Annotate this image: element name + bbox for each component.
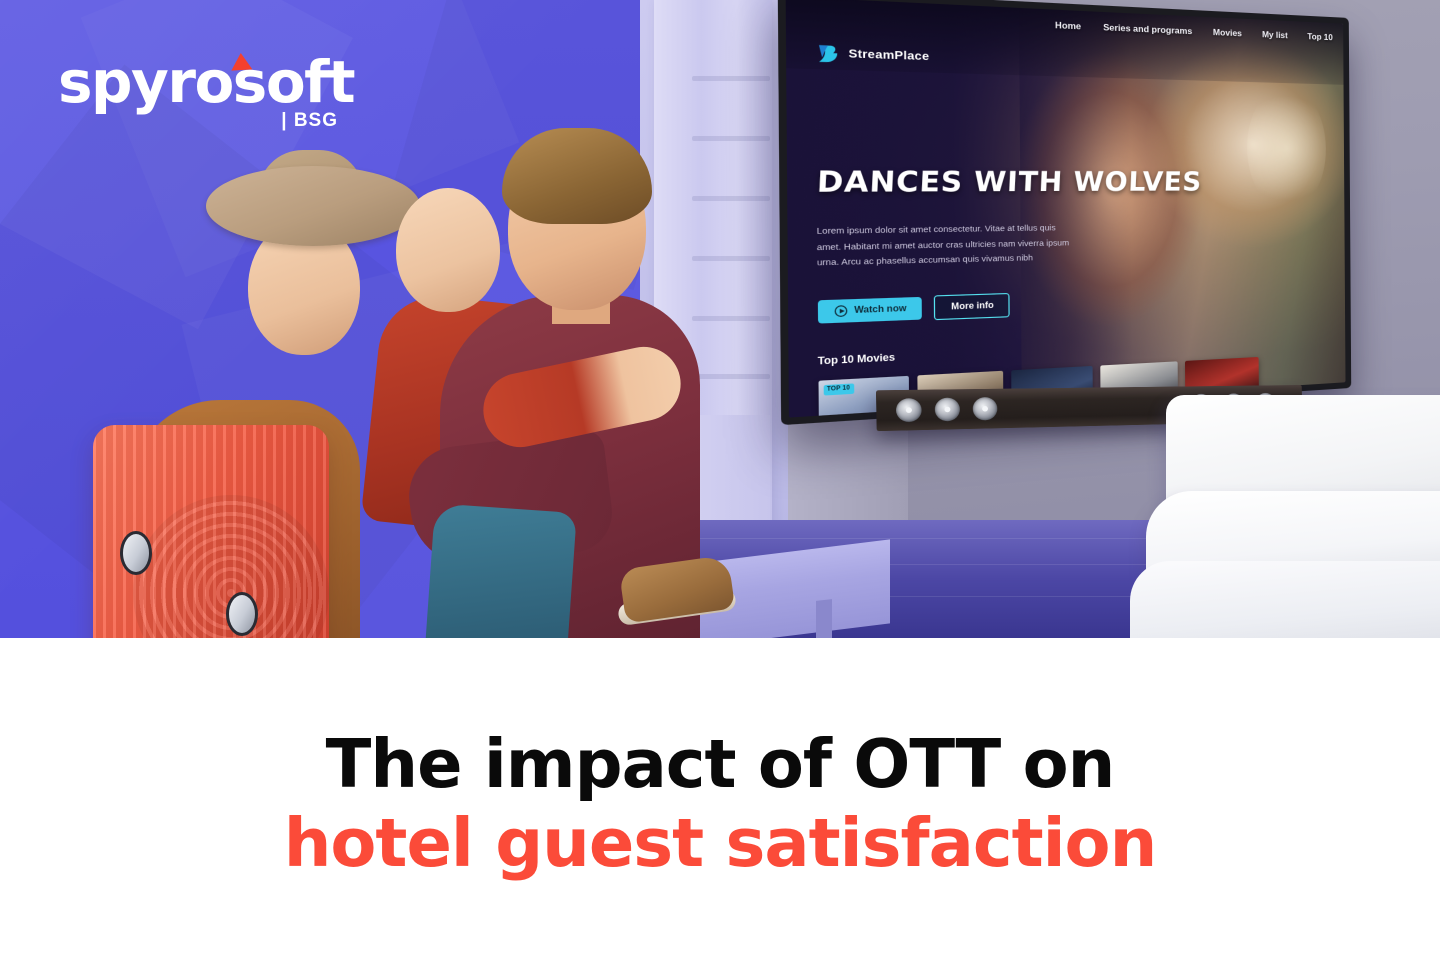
hero-banner: StreamPlace Home Series and programs Mov… — [0, 0, 1440, 638]
girl-leg — [421, 503, 577, 638]
man-hair — [502, 128, 652, 224]
more-info-label: More info — [951, 300, 994, 312]
wall-mounted-tv: StreamPlace Home Series and programs Mov… — [778, 0, 1351, 425]
speaker-cone-icon — [935, 398, 960, 422]
nav-item-movies[interactable]: Movies — [1213, 27, 1242, 39]
suitcase-wheel — [120, 531, 152, 575]
orange-suitcase — [93, 425, 329, 638]
headline-line-1: The impact of OTT on — [326, 725, 1115, 804]
nav-item-home[interactable]: Home — [1055, 19, 1081, 31]
bsg-sublabel: | BSG — [281, 110, 338, 132]
bed-duvet — [1130, 561, 1440, 638]
featured-description: Lorem ipsum dolor sit amet consectetur. … — [817, 221, 1075, 271]
more-info-button[interactable]: More info — [934, 293, 1010, 320]
suitcase-wheel — [226, 592, 258, 636]
woman-hat — [206, 166, 420, 246]
top-10-badge: TOP 10 — [823, 383, 854, 395]
streamplace-wordmark: StreamPlace — [848, 47, 929, 63]
spyrosoft-logo[interactable]: spyrosoft | BSG — [58, 48, 348, 144]
headline-block: The impact of OTT on hotel guest satisfa… — [0, 638, 1440, 960]
hotel-bed — [1140, 395, 1440, 638]
streamplace-play-mark-icon — [815, 42, 839, 65]
artwork-bokeh — [1247, 85, 1327, 211]
play-icon — [834, 305, 847, 317]
hotel-room-scene: StreamPlace Home Series and programs Mov… — [640, 0, 1440, 638]
side-table-leg — [816, 599, 832, 638]
tv-frame: StreamPlace Home Series and programs Mov… — [778, 0, 1351, 425]
nav-item-my-list[interactable]: My list — [1262, 29, 1288, 40]
speaker-cone-icon — [896, 398, 922, 422]
nav-item-top-10[interactable]: Top 10 — [1307, 31, 1332, 42]
streamplace-logo[interactable]: StreamPlace — [815, 42, 929, 68]
poster-page: StreamPlace Home Series and programs Mov… — [0, 0, 1440, 960]
watch-now-button[interactable]: Watch now — [817, 297, 922, 324]
girl-face — [396, 188, 500, 312]
tv-screen[interactable]: StreamPlace Home Series and programs Mov… — [786, 0, 1346, 418]
watch-now-label: Watch now — [854, 303, 906, 315]
spyrosoft-wordmark: spyrosoft — [58, 48, 354, 116]
speaker-cone-icon — [973, 397, 998, 421]
featured-title: DANCES WITH WOLVES — [815, 165, 1201, 199]
headline-line-2: hotel guest satisfaction — [284, 804, 1157, 883]
